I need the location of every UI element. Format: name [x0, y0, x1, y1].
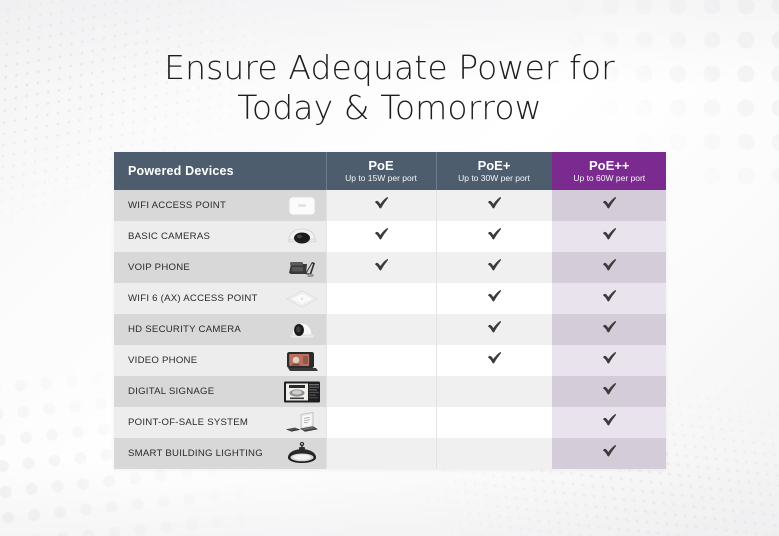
device-cell: SMART BUILDING LIGHTING [114, 438, 326, 469]
device-label: VIDEO PHONE [128, 355, 197, 366]
support-cell-poe [326, 376, 436, 407]
page-title: Ensure Adequate Power for Today & Tomorr… [0, 48, 779, 128]
check-icon [487, 320, 502, 334]
table-row: POINT-OF-SALE SYSTEM [114, 407, 666, 438]
desk-phone-icon [282, 254, 322, 282]
check-icon [602, 382, 617, 396]
column-header-poe-plus-subtitle: Up to 30W per port [437, 173, 552, 184]
column-header-poe-title: PoE [327, 158, 436, 173]
table-row: HD SECURITY CAMERA [114, 314, 666, 345]
support-cell-poe [326, 438, 436, 469]
check-icon [602, 289, 617, 303]
check-icon [374, 258, 389, 272]
column-header-poe-subtitle: Up to 15W per port [327, 173, 436, 184]
support-cell-poe [326, 221, 436, 252]
device-cell: WIFI ACCESS POINT [114, 190, 326, 221]
column-header-poe: PoE Up to 15W per port [326, 152, 436, 190]
support-cell-poe-plusplus [552, 438, 666, 469]
table-row: VIDEO PHONE [114, 345, 666, 376]
device-label: DIGITAL SIGNAGE [128, 386, 214, 397]
support-cell-poe [326, 407, 436, 438]
column-header-device: Powered Devices [114, 152, 326, 190]
check-icon [374, 196, 389, 210]
device-cell: VIDEO PHONE [114, 345, 326, 376]
support-cell-poe-plusplus [552, 221, 666, 252]
support-cell-poe-plus [436, 190, 552, 221]
high-bay-light-icon [282, 440, 322, 468]
support-cell-poe [326, 345, 436, 376]
table-row: WIFI ACCESS POINT [114, 190, 666, 221]
support-cell-poe-plus [436, 345, 552, 376]
device-cell: VOIP PHONE [114, 252, 326, 283]
support-cell-poe [326, 314, 436, 345]
table-header-row: Powered Devices PoE Up to 15W per port P… [114, 152, 666, 190]
check-icon [602, 227, 617, 241]
support-cell-poe-plus [436, 407, 552, 438]
device-cell: WIFI 6 (AX) ACCESS POINT [114, 283, 326, 314]
check-icon [602, 444, 617, 458]
support-cell-poe-plusplus [552, 345, 666, 376]
check-icon [602, 351, 617, 365]
support-cell-poe-plusplus [552, 407, 666, 438]
check-icon [487, 227, 502, 241]
comparison-table: Powered Devices PoE Up to 15W per port P… [114, 152, 666, 469]
turret-camera-icon [282, 316, 322, 344]
support-cell-poe-plus [436, 252, 552, 283]
video-phone-icon [282, 347, 322, 375]
support-cell-poe-plusplus [552, 376, 666, 407]
support-cell-poe-plus [436, 283, 552, 314]
support-cell-poe [326, 283, 436, 314]
check-icon [602, 320, 617, 334]
device-label: WIFI ACCESS POINT [128, 200, 226, 211]
check-icon [602, 413, 617, 427]
support-cell-poe-plus [436, 438, 552, 469]
device-label: SMART BUILDING LIGHTING [128, 448, 263, 459]
support-cell-poe-plus [436, 221, 552, 252]
page-title-line-2: Today & Tomorrow [0, 88, 779, 128]
check-icon [487, 289, 502, 303]
column-header-poe-plusplus-subtitle: Up to 60W per port [553, 173, 667, 184]
access-point-icon [282, 192, 322, 220]
slide-canvas: Ensure Adequate Power for Today & Tomorr… [0, 0, 779, 536]
table-row: BASIC CAMERAS [114, 221, 666, 252]
device-label: WIFI 6 (AX) ACCESS POINT [128, 293, 258, 304]
digital-signage-icon [282, 378, 322, 406]
column-header-poe-plusplus-title: PoE++ [553, 158, 667, 173]
check-icon [602, 258, 617, 272]
check-icon [374, 227, 389, 241]
device-label: VOIP PHONE [128, 262, 190, 273]
check-icon [602, 196, 617, 210]
device-label: BASIC CAMERAS [128, 231, 210, 242]
point-of-sale-icon [282, 409, 322, 437]
device-cell: POINT-OF-SALE SYSTEM [114, 407, 326, 438]
support-cell-poe [326, 190, 436, 221]
support-cell-poe-plusplus [552, 283, 666, 314]
support-cell-poe-plus [436, 314, 552, 345]
support-cell-poe-plusplus [552, 252, 666, 283]
device-cell: HD SECURITY CAMERA [114, 314, 326, 345]
column-header-poe-plusplus: PoE++ Up to 60W per port [552, 152, 666, 190]
support-cell-poe-plus [436, 376, 552, 407]
table-body: WIFI ACCESS POINTBASIC CAMERASVOIP PHONE… [114, 190, 666, 469]
check-icon [487, 258, 502, 272]
poe-comparison-table: Powered Devices PoE Up to 15W per port P… [114, 152, 666, 469]
check-icon [487, 351, 502, 365]
wifi6-access-point-icon [282, 285, 322, 313]
table-row: DIGITAL SIGNAGE [114, 376, 666, 407]
table-row: SMART BUILDING LIGHTING [114, 438, 666, 469]
device-label: POINT-OF-SALE SYSTEM [128, 417, 248, 428]
device-cell: BASIC CAMERAS [114, 221, 326, 252]
page-title-line-1: Ensure Adequate Power for [164, 48, 615, 87]
device-cell: DIGITAL SIGNAGE [114, 376, 326, 407]
check-icon [487, 196, 502, 210]
support-cell-poe-plusplus [552, 190, 666, 221]
column-header-poe-plus: PoE+ Up to 30W per port [436, 152, 552, 190]
dome-camera-icon [282, 223, 322, 251]
table-row: WIFI 6 (AX) ACCESS POINT [114, 283, 666, 314]
support-cell-poe-plusplus [552, 314, 666, 345]
device-label: HD SECURITY CAMERA [128, 324, 241, 335]
table-row: VOIP PHONE [114, 252, 666, 283]
table-header: Powered Devices PoE Up to 15W per port P… [114, 152, 666, 190]
support-cell-poe [326, 252, 436, 283]
column-header-poe-plus-title: PoE+ [437, 158, 552, 173]
